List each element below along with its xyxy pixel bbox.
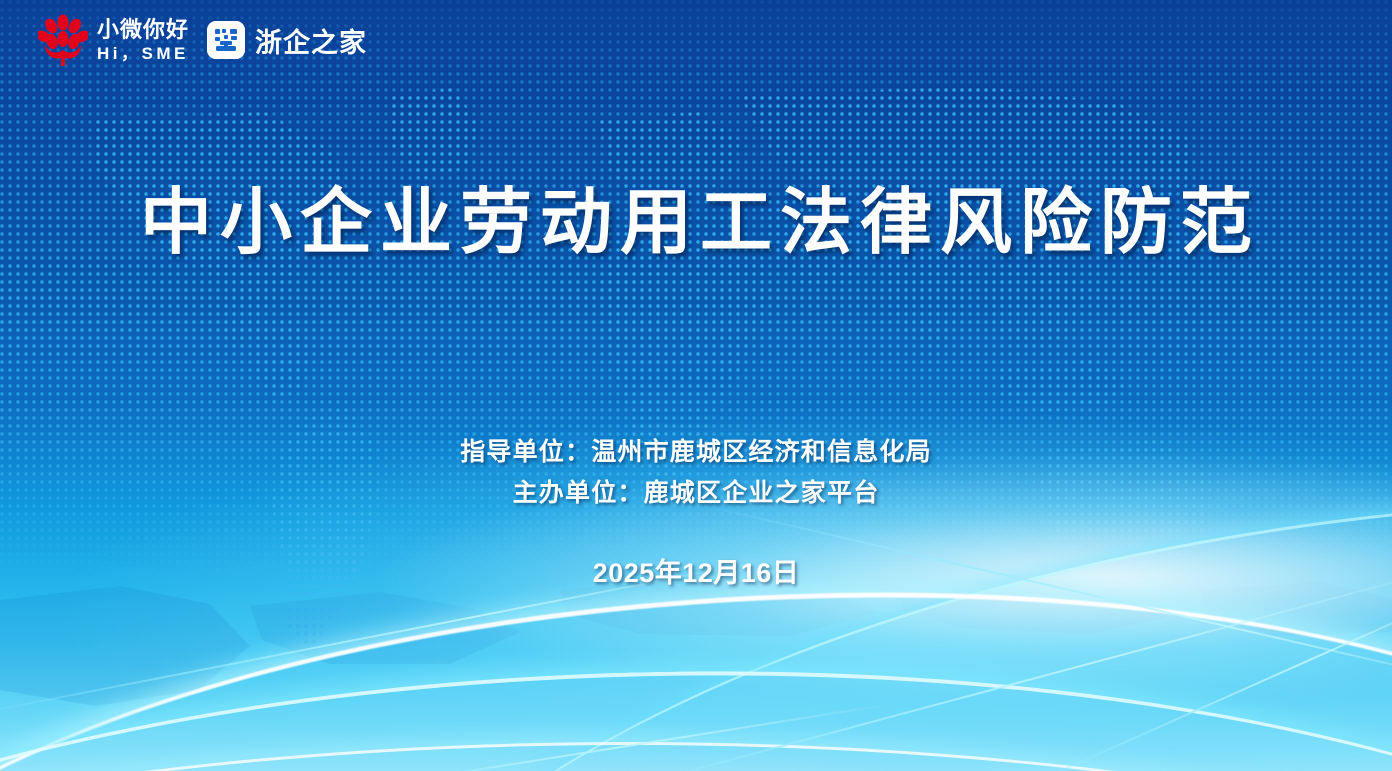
presentation-title-slide: 小微你好 Hi，SME 浙企之家 bbox=[0, 0, 1392, 771]
dotted-world-map-background bbox=[0, 0, 1392, 771]
sme-logo-text: 小微你好 Hi，SME bbox=[97, 19, 189, 62]
red-flower-logo-icon bbox=[38, 14, 88, 66]
zheqi-logo-label: 浙企之家 bbox=[255, 21, 367, 60]
bottom-dome-glow bbox=[251, 678, 1142, 771]
organizer-block: 指导单位：温州市鹿城区经济和信息化局 主办单位：鹿城区企业之家平台 bbox=[0, 432, 1392, 514]
zheqi-pixel-badge-icon bbox=[207, 21, 245, 59]
sme-logo-cn-label: 小微你好 bbox=[97, 19, 189, 41]
light-streak-3 bbox=[700, 504, 1392, 690]
world-map-dots bbox=[0, 0, 1392, 771]
zheqi-logo: 浙企之家 bbox=[207, 21, 367, 60]
logo-bar: 小微你好 Hi，SME 浙企之家 bbox=[38, 14, 367, 66]
event-date: 2025年12月16日 bbox=[0, 551, 1392, 590]
hosting-organization: 主办单位：鹿城区企业之家平台 bbox=[0, 473, 1392, 514]
guiding-organization: 指导单位：温州市鹿城区经济和信息化局 bbox=[0, 432, 1392, 473]
slide-title: 中小企业劳动用工法律风险防范 bbox=[0, 163, 1392, 268]
sme-logo-en-label: Hi，SME bbox=[97, 45, 189, 62]
sme-logo: 小微你好 Hi，SME bbox=[38, 14, 189, 66]
